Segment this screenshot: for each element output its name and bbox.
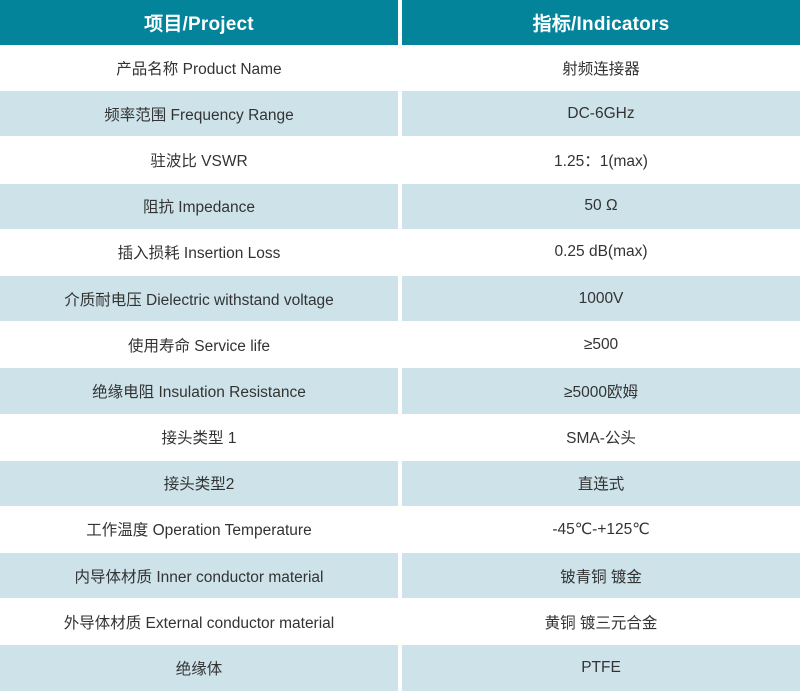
cell-indicator: 1000V bbox=[400, 275, 800, 322]
cell-indicator: PTFE bbox=[400, 644, 800, 691]
cell-project: 频率范围 Frequency Range bbox=[0, 90, 400, 137]
column-header-indicator: 指标/Indicators bbox=[400, 0, 800, 45]
table-row: 驻波比 VSWR1.25：1(max) bbox=[0, 137, 800, 182]
cell-project: 阻抗 Impedance bbox=[0, 183, 400, 230]
cell-project: 绝缘电阻 Insulation Resistance bbox=[0, 367, 400, 414]
specifications-table: 项目/Project 指标/Indicators 产品名称 Product Na… bbox=[0, 0, 800, 692]
cell-indicator: ≥5000欧姆 bbox=[400, 367, 800, 414]
cell-indicator: SMA-公头 bbox=[400, 415, 800, 460]
table-row: 绝缘电阻 Insulation Resistance≥5000欧姆 bbox=[0, 367, 800, 414]
cell-indicator: 50 Ω bbox=[400, 183, 800, 230]
table-row: 插入损耗 Insertion Loss0.25 dB(max) bbox=[0, 230, 800, 275]
cell-project: 插入损耗 Insertion Loss bbox=[0, 230, 400, 275]
cell-project: 接头类型2 bbox=[0, 460, 400, 507]
table-row: 使用寿命 Service life≥500 bbox=[0, 322, 800, 367]
cell-indicator: 射频连接器 bbox=[400, 45, 800, 90]
table-row: 绝缘体PTFE bbox=[0, 644, 800, 691]
column-header-project: 项目/Project bbox=[0, 0, 400, 45]
cell-indicator: 0.25 dB(max) bbox=[400, 230, 800, 275]
cell-indicator: ≥500 bbox=[400, 322, 800, 367]
cell-project: 内导体材质 Inner conductor material bbox=[0, 552, 400, 599]
cell-indicator: 铍青铜 镀金 bbox=[400, 552, 800, 599]
cell-indicator: 黄铜 镀三元合金 bbox=[400, 599, 800, 644]
table-row: 介质耐电压 Dielectric withstand voltage1000V bbox=[0, 275, 800, 322]
table-header-row: 项目/Project 指标/Indicators bbox=[0, 0, 800, 45]
cell-project: 驻波比 VSWR bbox=[0, 137, 400, 182]
table-row: 内导体材质 Inner conductor material铍青铜 镀金 bbox=[0, 552, 800, 599]
cell-indicator: 1.25：1(max) bbox=[400, 137, 800, 182]
table-row: 阻抗 Impedance50 Ω bbox=[0, 183, 800, 230]
cell-project: 介质耐电压 Dielectric withstand voltage bbox=[0, 275, 400, 322]
table-row: 工作温度 Operation Temperature-45℃-+125℃ bbox=[0, 507, 800, 552]
table-row: 频率范围 Frequency RangeDC-6GHz bbox=[0, 90, 800, 137]
cell-project: 外导体材质 External conductor material bbox=[0, 599, 400, 644]
table-row: 外导体材质 External conductor material黄铜 镀三元合… bbox=[0, 599, 800, 644]
cell-project: 接头类型 1 bbox=[0, 415, 400, 460]
cell-project: 工作温度 Operation Temperature bbox=[0, 507, 400, 552]
cell-indicator: 直连式 bbox=[400, 460, 800, 507]
table-body: 产品名称 Product Name射频连接器频率范围 Frequency Ran… bbox=[0, 45, 800, 692]
cell-project: 使用寿命 Service life bbox=[0, 322, 400, 367]
table-header: 项目/Project 指标/Indicators bbox=[0, 0, 800, 45]
table-row: 接头类型2直连式 bbox=[0, 460, 800, 507]
table-row: 接头类型 1SMA-公头 bbox=[0, 415, 800, 460]
cell-project: 产品名称 Product Name bbox=[0, 45, 400, 90]
cell-indicator: -45℃-+125℃ bbox=[400, 507, 800, 552]
table-row: 产品名称 Product Name射频连接器 bbox=[0, 45, 800, 90]
cell-project: 绝缘体 bbox=[0, 644, 400, 691]
cell-indicator: DC-6GHz bbox=[400, 90, 800, 137]
